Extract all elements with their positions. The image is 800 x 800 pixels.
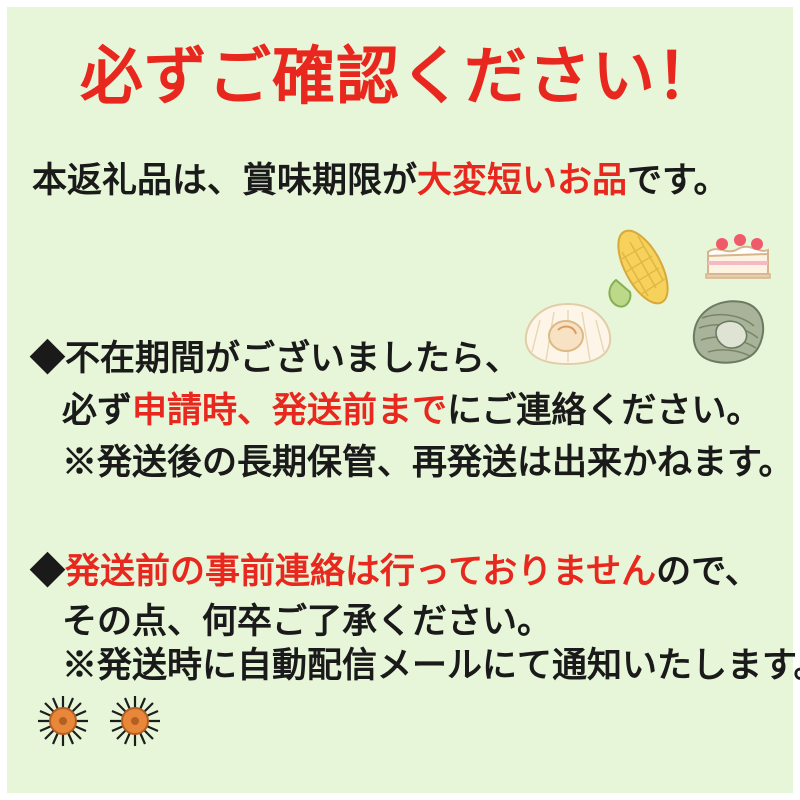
frame-edge-left [0, 0, 7, 800]
notice-line-4: ※発送後の長期保管、再発送は出来かねます。 [62, 434, 794, 485]
corn-illustration [600, 222, 686, 312]
notice-line-4-part-1: ※発送後の長期保管、再発送は出来かねます。 [62, 443, 794, 482]
notice-line-1: 本返礼品は、賞味期限が大変短いお品です。 [32, 152, 729, 203]
notice-line-3: 必ず申請時、発送前までにご連絡ください。 [62, 382, 761, 433]
notice-line-7: ※発送時に自動配信メールにて通知いたします。 [62, 637, 800, 688]
notice-line-2-part-1: ◆不在期間がございましたら、 [30, 339, 520, 378]
notice-line-6-part-1: その点、何卒ご了承ください。 [62, 602, 552, 641]
notice-line-3-part-1: 必ず [62, 391, 132, 430]
frame-edge-bottom [0, 793, 800, 800]
sea-urchin-illustration-left [36, 694, 90, 748]
notice-line-5-part-1: ◆ [30, 552, 65, 591]
notice-line-3-part-2: 申請時、発送前まで [132, 391, 447, 430]
notice-line-2: ◆不在期間がございましたら、 [30, 330, 520, 381]
notice-line-1-part-2: 大変短いお品 [417, 161, 627, 200]
notice-line-1-part-1: 本返礼品は、賞味期限が [32, 161, 417, 200]
notice-line-7-part-1: ※発送時に自動配信メールにて通知いたします。 [62, 646, 800, 685]
notice-line-5-part-3: ので、 [656, 552, 760, 591]
notice-line-5-part-2: 発送前の事前連絡は行っておりません [65, 552, 656, 591]
notice-line-5: ◆発送前の事前連絡は行っておりませんので、 [30, 543, 760, 594]
headline: 必ずご確認ください！ [0, 26, 800, 117]
notice-line-1-part-3: です。 [627, 161, 729, 200]
notice-poster: 必ずご確認ください！ 本返礼品は、賞味期限が大変短いお品です。 ◆不在期間がござ… [0, 0, 800, 800]
notice-line-3-part-3: にご連絡ください。 [447, 391, 761, 430]
sea-urchin-illustration-right [108, 694, 162, 748]
frame-edge-top [0, 0, 800, 7]
scallop-illustration [520, 300, 616, 366]
oyster-illustration [684, 296, 772, 368]
cake-illustration [700, 222, 776, 286]
